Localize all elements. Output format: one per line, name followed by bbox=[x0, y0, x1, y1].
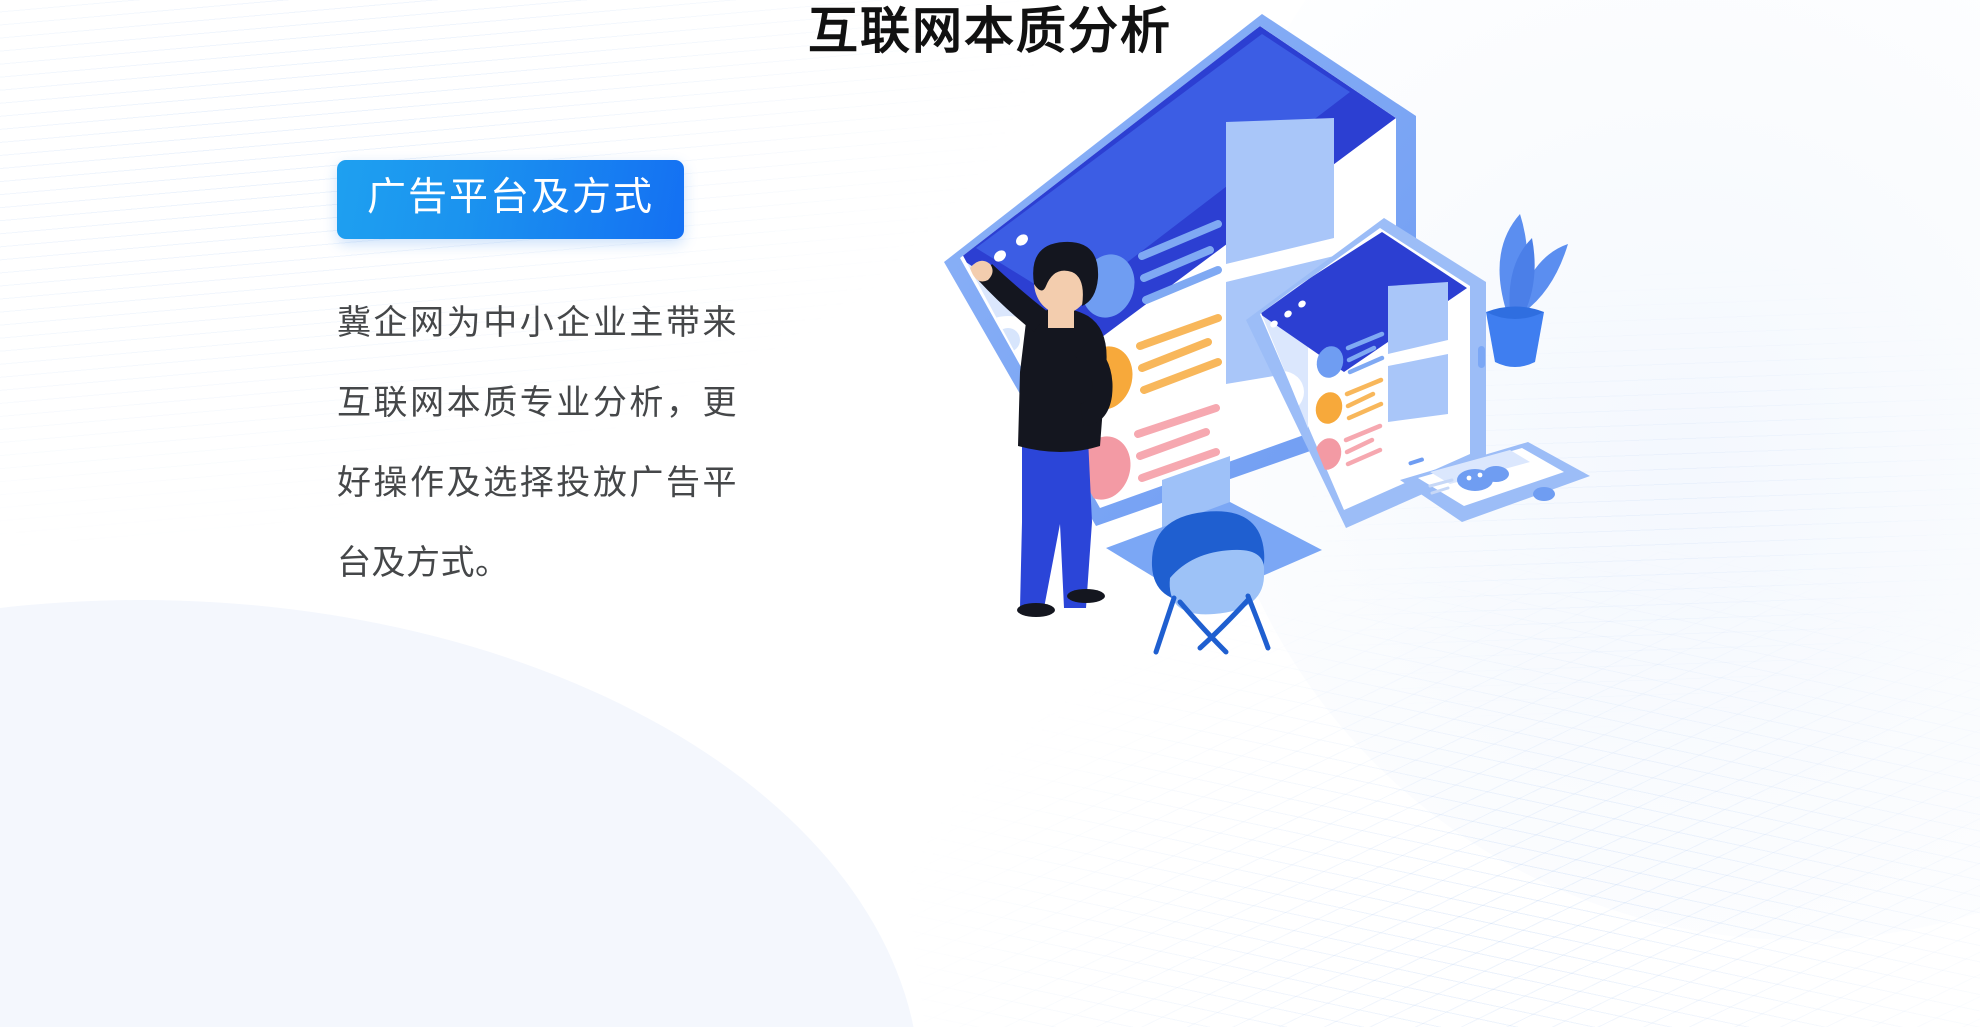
person-shoe bbox=[1017, 603, 1055, 617]
tablet-home-button bbox=[1478, 346, 1485, 368]
round-chair bbox=[1152, 511, 1268, 652]
potted-plant bbox=[1486, 214, 1568, 367]
section-badge: 广告平台及方式 bbox=[337, 160, 684, 239]
tablet-sidebar-lines bbox=[1266, 468, 1308, 500]
background-arc-bottom-left bbox=[0, 600, 920, 1027]
person-shoe bbox=[1067, 589, 1105, 603]
body-paragraph: 冀企网为中小企业主带来互联网本质专业分析，更好操作及选择投放广告平台及方式。 bbox=[337, 283, 737, 603]
person-pants bbox=[1020, 438, 1092, 608]
phone-home-button bbox=[1533, 487, 1555, 501]
plant-pot bbox=[1486, 312, 1544, 367]
page-title: 互联网本质分析 bbox=[0, 2, 1980, 60]
copy-block: 广告平台及方式 冀企网为中小企业主带来互联网本质专业分析，更好操作及选择投放广告… bbox=[337, 160, 857, 603]
isometric-workspace-illustration bbox=[930, 10, 1670, 660]
tablet-thumbnail-bottom bbox=[1388, 354, 1448, 422]
